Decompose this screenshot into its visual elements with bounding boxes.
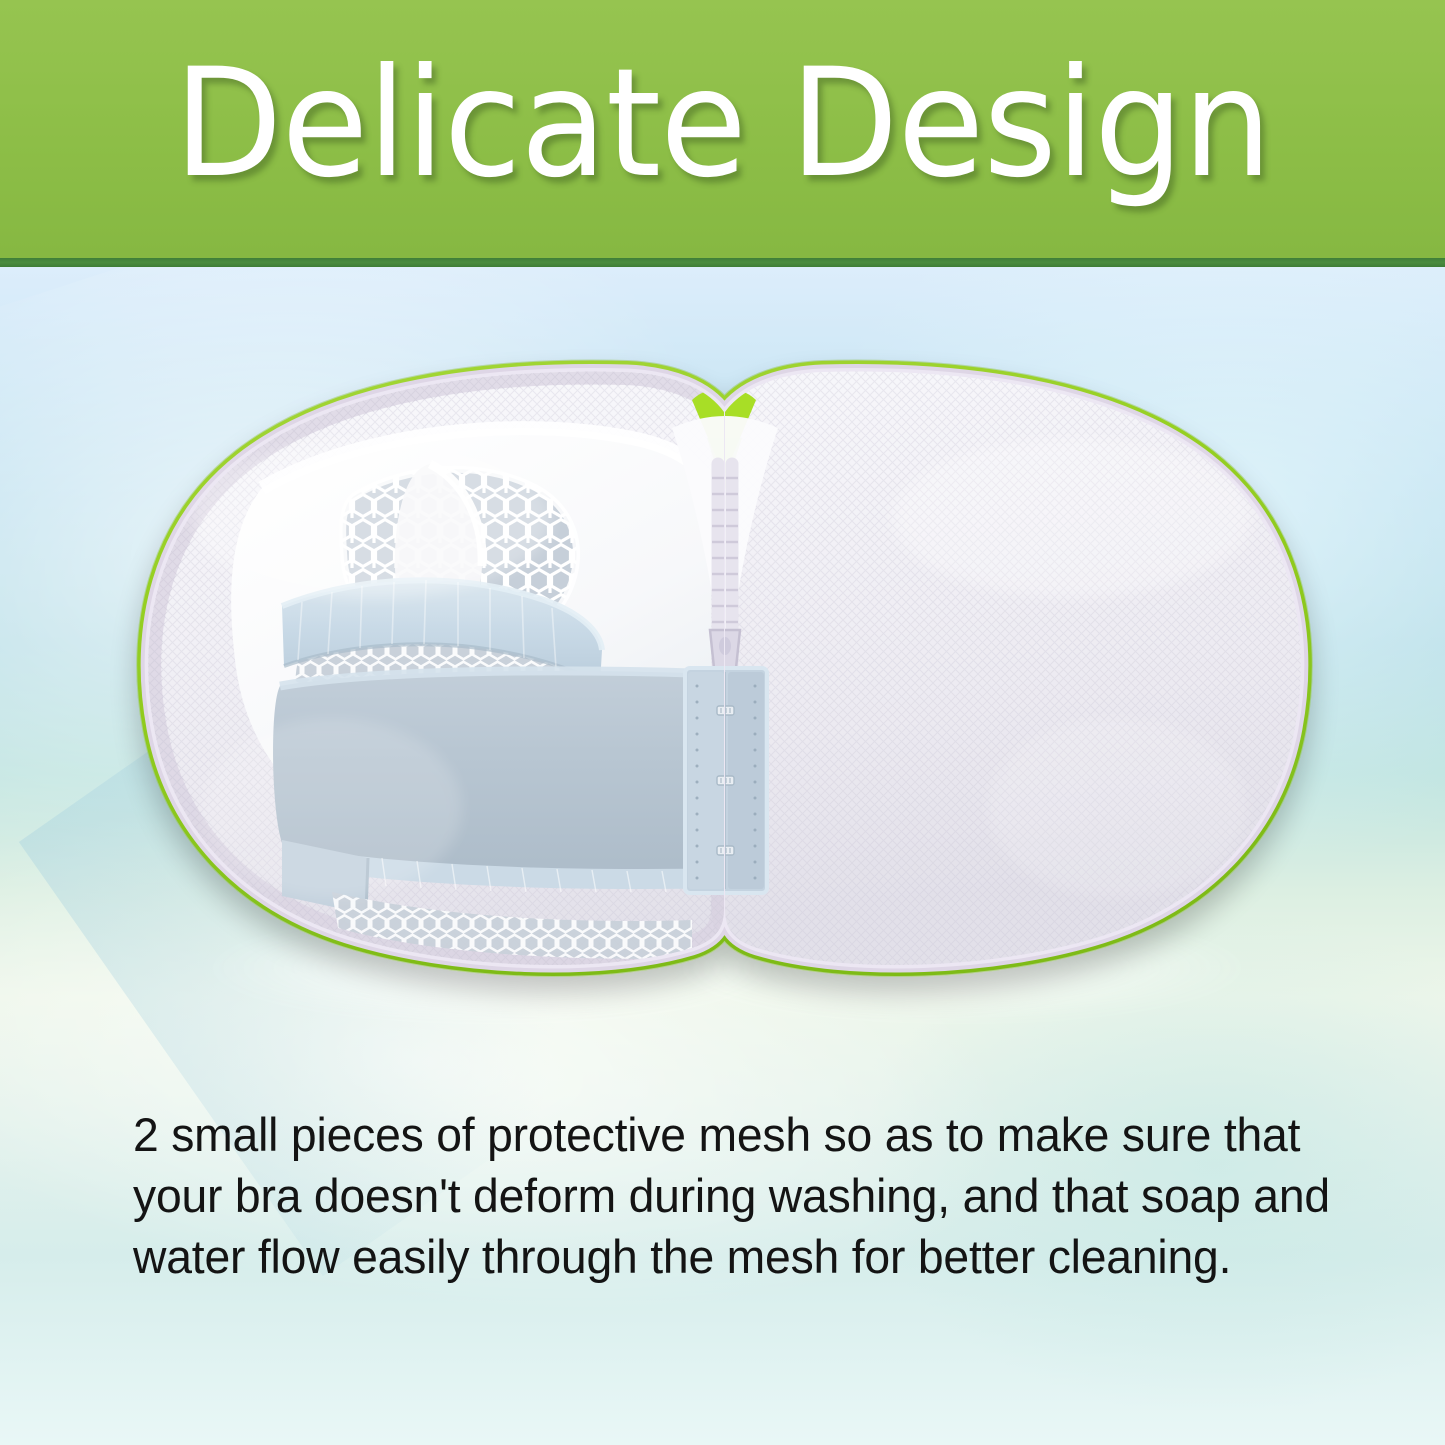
header-bottom-rule bbox=[0, 258, 1445, 267]
feature-description-text: 2 small pieces of protective mesh so as … bbox=[133, 1104, 1369, 1287]
product-feature-poster: Delicate Design 2 small pieces of protec… bbox=[0, 0, 1445, 1445]
bra-hook-closure bbox=[685, 668, 767, 893]
bra-wash-bag-product-image bbox=[132, 368, 1317, 988]
page-title: Delicate Design bbox=[43, 24, 1401, 224]
